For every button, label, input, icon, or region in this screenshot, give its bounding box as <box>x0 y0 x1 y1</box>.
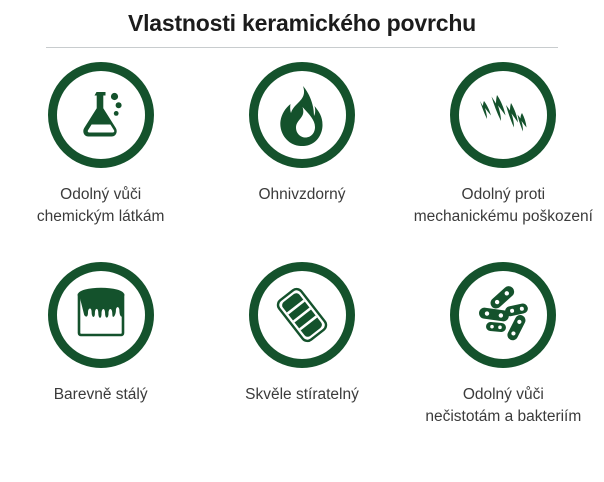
paint-can-icon <box>70 286 132 344</box>
feature-item-colorfast: Barevně stálý <box>0 262 201 462</box>
feature-item-chemicals: Odolný vůči chemickým látkám <box>0 62 201 262</box>
feature-caption-line1: Odolný proti <box>414 184 593 206</box>
feature-caption: Odolný proti mechanickému poškození <box>414 184 593 228</box>
title-divider <box>46 47 558 48</box>
feature-caption: Skvěle stíratelný <box>245 384 359 406</box>
feature-item-wipeable: Skvěle stíratelný <box>201 262 402 462</box>
feature-caption-line1: Odolný vůči <box>37 184 164 206</box>
flame-icon <box>272 84 332 146</box>
feature-caption-line1: Ohnivzdorný <box>258 184 345 206</box>
feature-caption-line1: Odolný vůči <box>425 384 581 406</box>
feature-caption: Odolný vůči nečistotám a bakteriím <box>425 384 581 428</box>
feature-icon-circle <box>48 262 154 368</box>
feature-caption-line2: chemickým látkám <box>37 206 164 228</box>
feature-caption-line2: mechanickému poškození <box>414 206 593 228</box>
scratch-marks-icon <box>474 85 532 145</box>
feature-caption: Ohnivzdorný <box>258 184 345 206</box>
feature-item-antibacterial: Odolný vůči nečistotám a bakteriím <box>403 262 604 462</box>
feature-icon-circle <box>249 62 355 168</box>
feature-icon-circle <box>450 62 556 168</box>
feature-icon-circle <box>48 62 154 168</box>
feature-item-fireproof: Ohnivzdorný <box>201 62 402 262</box>
feature-caption: Barevně stálý <box>54 384 148 406</box>
feature-icon-circle <box>450 262 556 368</box>
chemical-flask-icon <box>70 84 132 146</box>
feature-caption-line1: Skvěle stíratelný <box>245 384 359 406</box>
feature-caption-line2: nečistotám a bakteriím <box>425 406 581 428</box>
feature-caption: Odolný vůči chemickým látkám <box>37 184 164 228</box>
feature-grid: Odolný vůči chemickým látkám Ohnivzdorný <box>0 62 604 462</box>
eraser-icon <box>271 284 333 346</box>
infographic-page: Vlastnosti keramického povrchu <box>0 0 604 482</box>
feature-item-scratch-resistant: Odolný proti mechanickému poškození <box>403 62 604 262</box>
bacteria-icon <box>472 284 534 346</box>
feature-caption-line1: Barevně stálý <box>54 384 148 406</box>
feature-icon-circle <box>249 262 355 368</box>
page-title: Vlastnosti keramického povrchu <box>0 0 604 38</box>
